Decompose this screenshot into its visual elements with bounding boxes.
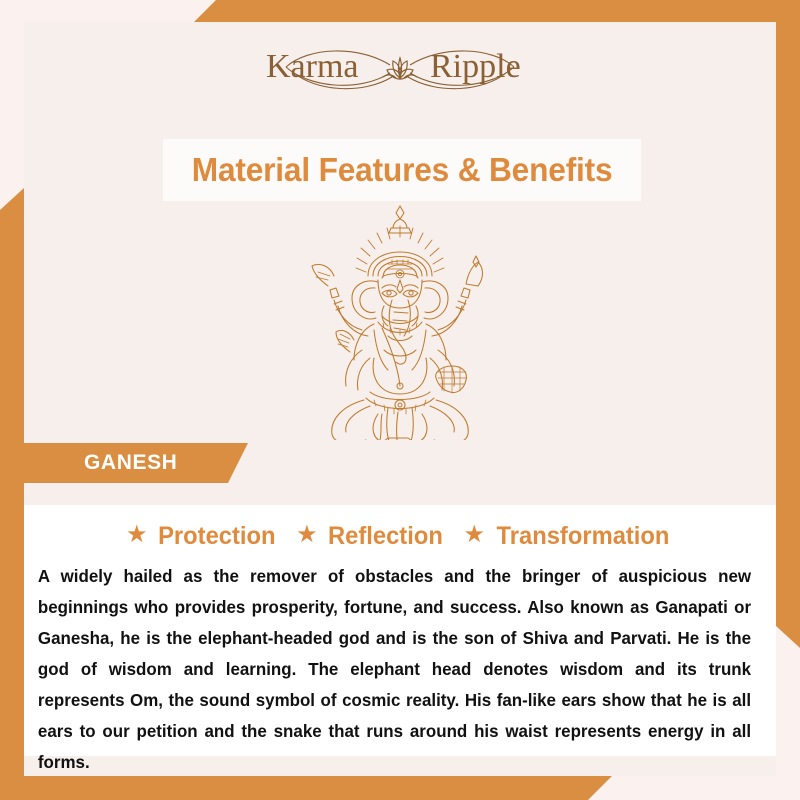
star-icon: ★ xyxy=(296,523,318,547)
brand-logo: Karma Ripple xyxy=(0,34,800,106)
frame-bottom-accent xyxy=(0,776,800,800)
page-title: Material Features & Benefits xyxy=(192,151,613,189)
logo-word-right: Ripple xyxy=(430,48,521,85)
feature-label-protection: Protection xyxy=(158,522,275,551)
ganesh-illustration xyxy=(270,200,530,440)
feature-item-protection: ★ Protection xyxy=(126,522,278,551)
frame-top-accent xyxy=(0,0,800,22)
section-tab-ganesh: GANESH xyxy=(24,443,248,483)
feature-item-transformation: ★ Transformation xyxy=(464,522,675,551)
illustration-stage xyxy=(24,200,776,440)
infographic-page: Karma Ripple Material Features & Benefit… xyxy=(0,0,800,800)
star-icon: ★ xyxy=(464,523,486,547)
lotus-icon xyxy=(383,58,417,79)
section-tab-label: GANESH xyxy=(24,451,177,475)
logo-word-left: Karma xyxy=(266,48,359,85)
description-paragraph: A widely hailed as the remover of obstac… xyxy=(32,561,757,778)
frame-left-accent xyxy=(0,188,24,800)
feature-label-transformation: Transformation xyxy=(497,522,670,551)
logo-svg: Karma Ripple xyxy=(250,37,550,103)
title-banner: Material Features & Benefits xyxy=(164,140,640,200)
feature-item-reflection: ★ Reflection xyxy=(296,522,445,551)
content-panel: ★ Protection ★ Reflection ★ Transformati… xyxy=(24,505,776,756)
features-row: ★ Protection ★ Reflection ★ Transformati… xyxy=(32,519,768,553)
star-icon: ★ xyxy=(126,523,148,547)
feature-label-reflection: Reflection xyxy=(328,522,443,551)
